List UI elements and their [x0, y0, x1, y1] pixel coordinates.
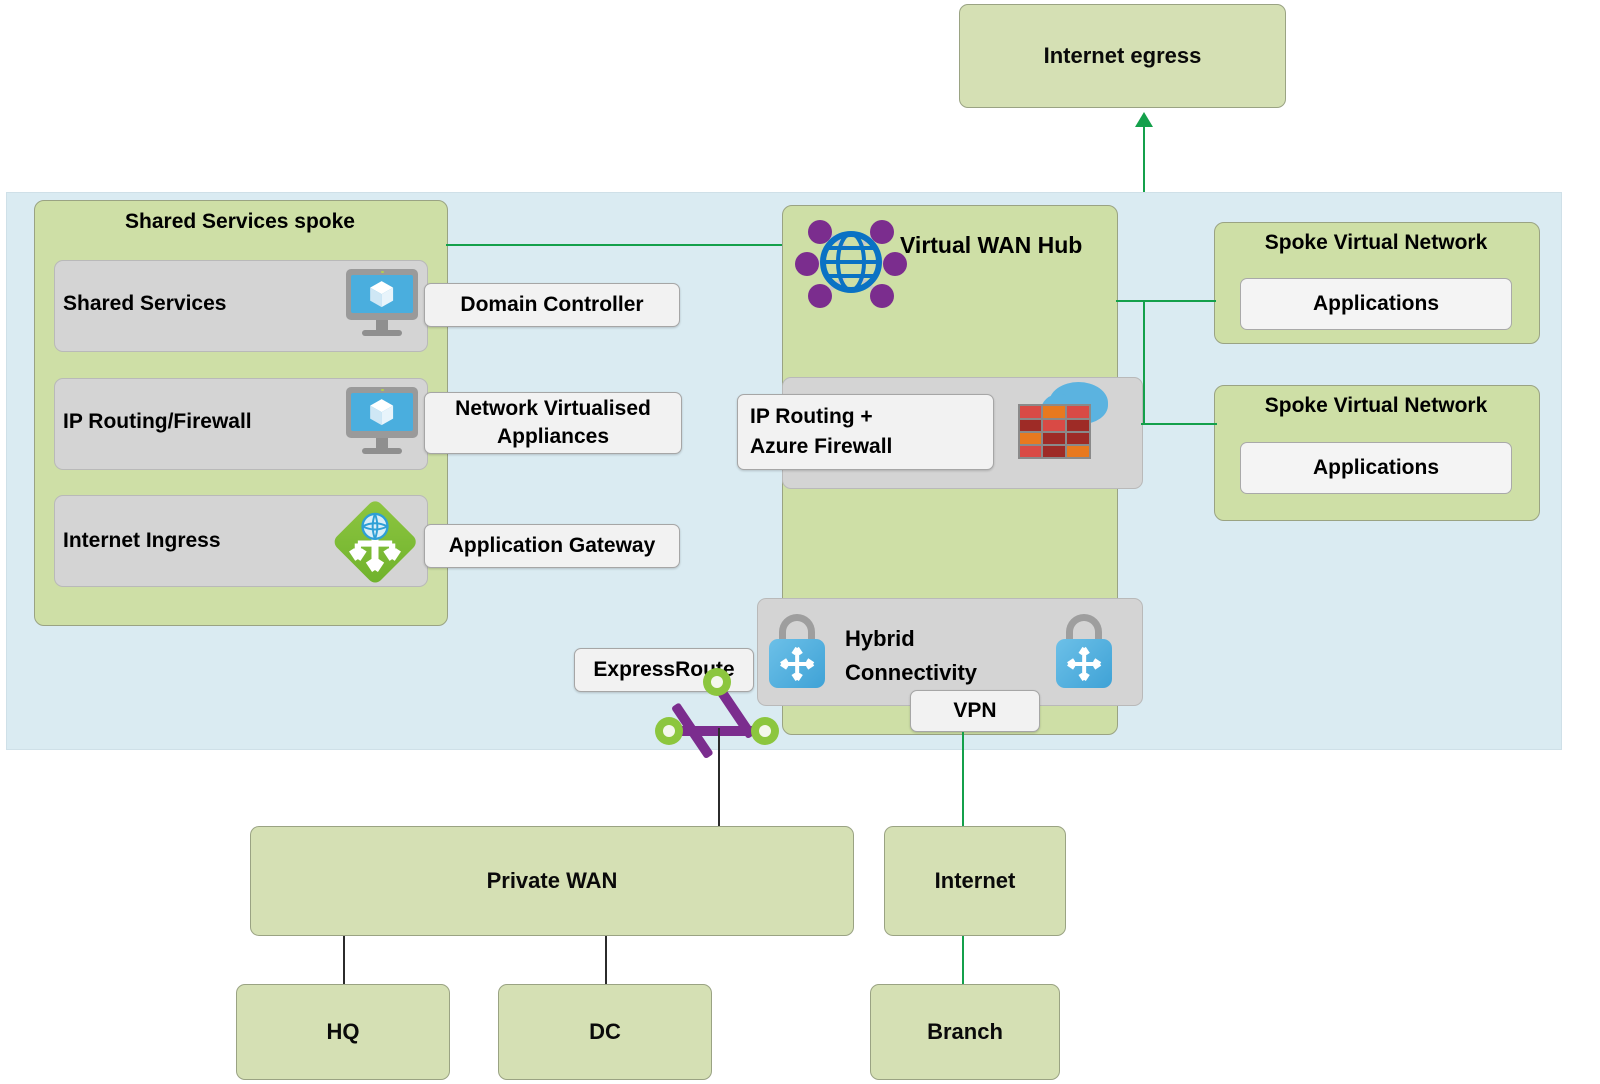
azure-vm-icon [344, 268, 420, 342]
branch-label: Branch [927, 1019, 1003, 1045]
hybrid-line1: Hybrid [845, 626, 915, 651]
vpn-callout[interactable]: VPN [910, 690, 1040, 732]
application-gateway-icon [336, 503, 414, 581]
spoke-virtual-network-title-1: Spoke Virtual Network [1214, 231, 1538, 255]
connector-private-wan-to-dc [605, 936, 607, 984]
ip-routing-azure-firewall-callout[interactable]: IP Routing + Azure Firewall [737, 394, 994, 470]
spoke-applications-label-2: Applications [1313, 456, 1439, 480]
internet-label: Internet [935, 868, 1016, 894]
shared-services-row-label: Shared Services [63, 292, 226, 316]
application-gateway-label: Application Gateway [449, 534, 656, 558]
connector-hub-to-spoke-2 [1141, 423, 1217, 425]
internet-box[interactable]: Internet [884, 826, 1066, 936]
firewall-label-line2: Azure Firewall [750, 432, 892, 462]
spoke-applications-2[interactable]: Applications [1240, 442, 1512, 494]
arrow-up-icon [1135, 112, 1153, 127]
virtual-wan-hub-title: Virtual WAN Hub [900, 232, 1082, 259]
hq-label: HQ [327, 1019, 360, 1045]
nva-callout[interactable]: Network Virtualised Appliances [424, 392, 682, 454]
private-wan-label: Private WAN [487, 868, 618, 894]
connector-hub-to-spoke-1 [1116, 300, 1216, 302]
vpn-gateway-icon [1052, 612, 1116, 690]
branch-box[interactable]: Branch [870, 984, 1060, 1080]
firewall-label-line1: IP Routing + [750, 402, 873, 432]
connector-private-wan-to-hq [343, 936, 345, 984]
hq-box[interactable]: HQ [236, 984, 450, 1080]
dc-box[interactable]: DC [498, 984, 712, 1080]
spoke-applications-label-1: Applications [1313, 292, 1439, 316]
connector-hub-vertical [1143, 300, 1145, 425]
vpn-label: VPN [953, 699, 996, 723]
internet-egress-box[interactable]: Internet egress [959, 4, 1286, 108]
shared-services-spoke-title: Shared Services spoke [34, 210, 446, 234]
hybrid-connectivity-label: Hybrid Connectivity [845, 622, 977, 690]
ip-routing-firewall-row-label: IP Routing/Firewall [63, 410, 252, 434]
dc-label: DC [589, 1019, 621, 1045]
application-gateway-callout[interactable]: Application Gateway [424, 524, 680, 568]
connector-vpn-to-internet [962, 732, 964, 826]
azure-vm-icon [344, 386, 420, 460]
nva-label: Network Virtualised Appliances [433, 395, 673, 451]
spoke-applications-1[interactable]: Applications [1240, 278, 1512, 330]
virtual-wan-globe-icon [795, 212, 907, 312]
spoke-virtual-network-title-2: Spoke Virtual Network [1214, 394, 1538, 418]
private-wan-box[interactable]: Private WAN [250, 826, 854, 936]
internet-ingress-row-label: Internet Ingress [63, 529, 221, 553]
expressroute-icon [655, 668, 785, 748]
connector-internet-to-branch [962, 936, 964, 984]
connector-expressroute-to-private-wan [718, 728, 720, 826]
internet-egress-label: Internet egress [1044, 43, 1202, 69]
domain-controller-label: Domain Controller [460, 293, 643, 317]
hybrid-line2: Connectivity [845, 660, 977, 685]
diagram-canvas: Internet egress Shared Services spoke Sh… [0, 0, 1600, 1084]
azure-firewall-icon [1014, 378, 1110, 466]
connector-shared-services-to-hub [446, 244, 786, 246]
domain-controller-callout[interactable]: Domain Controller [424, 283, 680, 327]
